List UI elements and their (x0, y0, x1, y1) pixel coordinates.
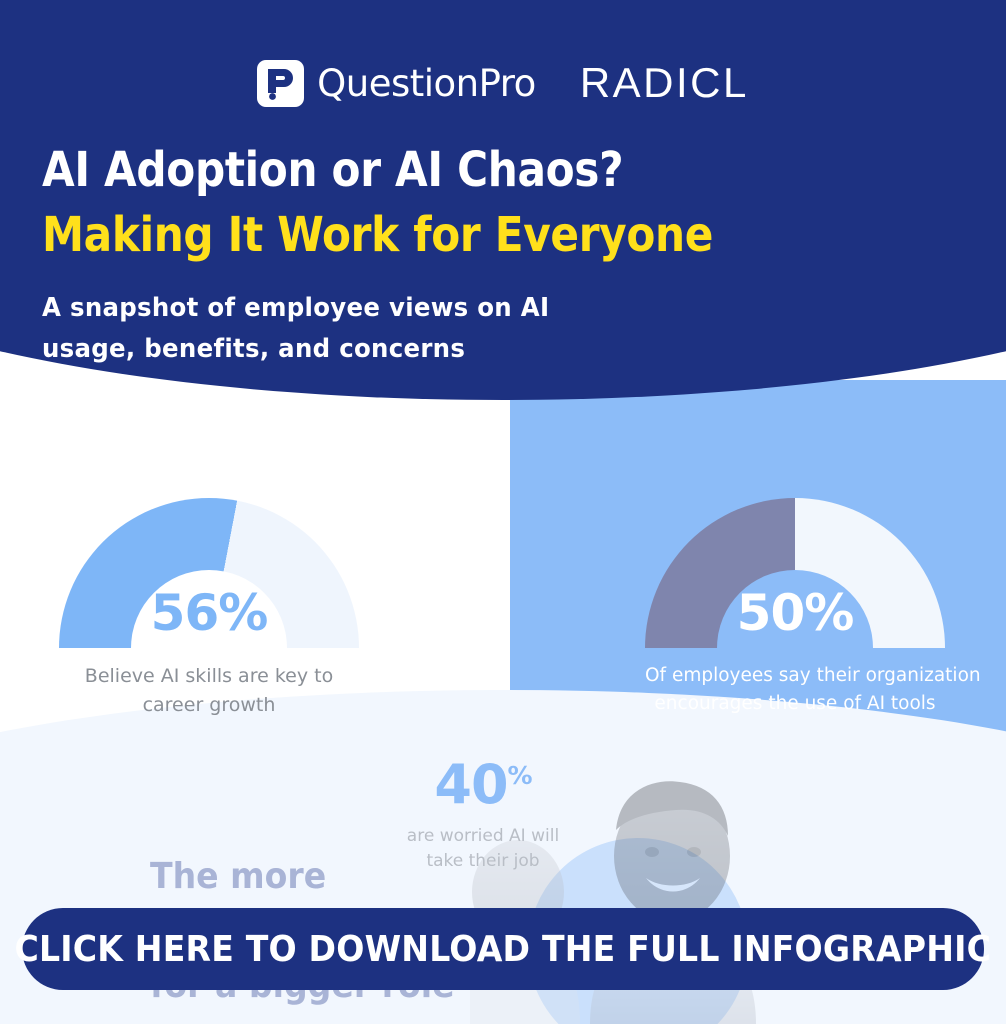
headline-line-1: AI Adoption or AI Chaos? (42, 138, 799, 203)
download-infographic-label: CLICK HERE TO DOWNLOAD THE FULL INFOGRAP… (15, 929, 992, 970)
infographic-page: 56% Believe AI skills are key to career … (0, 0, 1006, 1024)
header-content: QuestionPro RADICL AI Adoption or AI Cha… (0, 0, 1006, 400)
stat-caption-line-2: encourages the use of AI tools (645, 690, 945, 718)
stat-caption: Believe AI skills are key to career grow… (59, 662, 359, 719)
stat-number: 40 (434, 753, 507, 816)
subtitle-line-1: A snapshot of employee views on AI (42, 288, 700, 329)
stat-caption-line-2: career growth (59, 691, 359, 720)
stat-caption-line-1: are worried AI will (338, 824, 628, 849)
questionpro-p-mark-icon (257, 60, 304, 107)
radicl-wordmark[interactable]: RADICL (580, 59, 749, 107)
stat-caption: are worried AI will take their job (338, 824, 628, 873)
gauge-chart-50: 50% (645, 498, 945, 648)
download-infographic-button[interactable]: CLICK HERE TO DOWNLOAD THE FULL INFOGRAP… (22, 908, 984, 990)
gauge-value-label: 56% (59, 584, 359, 642)
stat-caption-line-1: Of employees say their organization (645, 662, 945, 690)
page-title: AI Adoption or AI Chaos? Making It Work … (42, 138, 902, 268)
subtitle-line-2: usage, benefits, and concerns (42, 329, 700, 370)
page-subtitle: A snapshot of employee views on AI usage… (42, 288, 742, 370)
gauge-chart-56: 56% (59, 498, 359, 648)
stat-caption-line-1: Believe AI skills are key to (59, 662, 359, 691)
questionpro-logo[interactable]: QuestionPro (257, 60, 536, 107)
stat-caption-line-2: take their job (338, 849, 628, 874)
stat-caption: Of employees say their organization enco… (645, 662, 945, 718)
questionpro-wordmark: QuestionPro (317, 62, 536, 105)
percent-sign: % (508, 761, 532, 790)
stat-value-40: 40% (338, 758, 628, 812)
headline-line-2: Making It Work for Everyone (42, 203, 799, 268)
gauge-value-label: 50% (645, 584, 945, 642)
stat-card-org-encourages: 50% Of employees say their organization … (645, 498, 945, 718)
logo-row: QuestionPro RADICL (0, 50, 1006, 116)
stat-card-ai-skills: 56% Believe AI skills are key to career … (59, 498, 359, 719)
stat-card-worried-job: 40% are worried AI will take their job (338, 758, 628, 873)
header-banner: QuestionPro RADICL AI Adoption or AI Cha… (0, 0, 1006, 400)
